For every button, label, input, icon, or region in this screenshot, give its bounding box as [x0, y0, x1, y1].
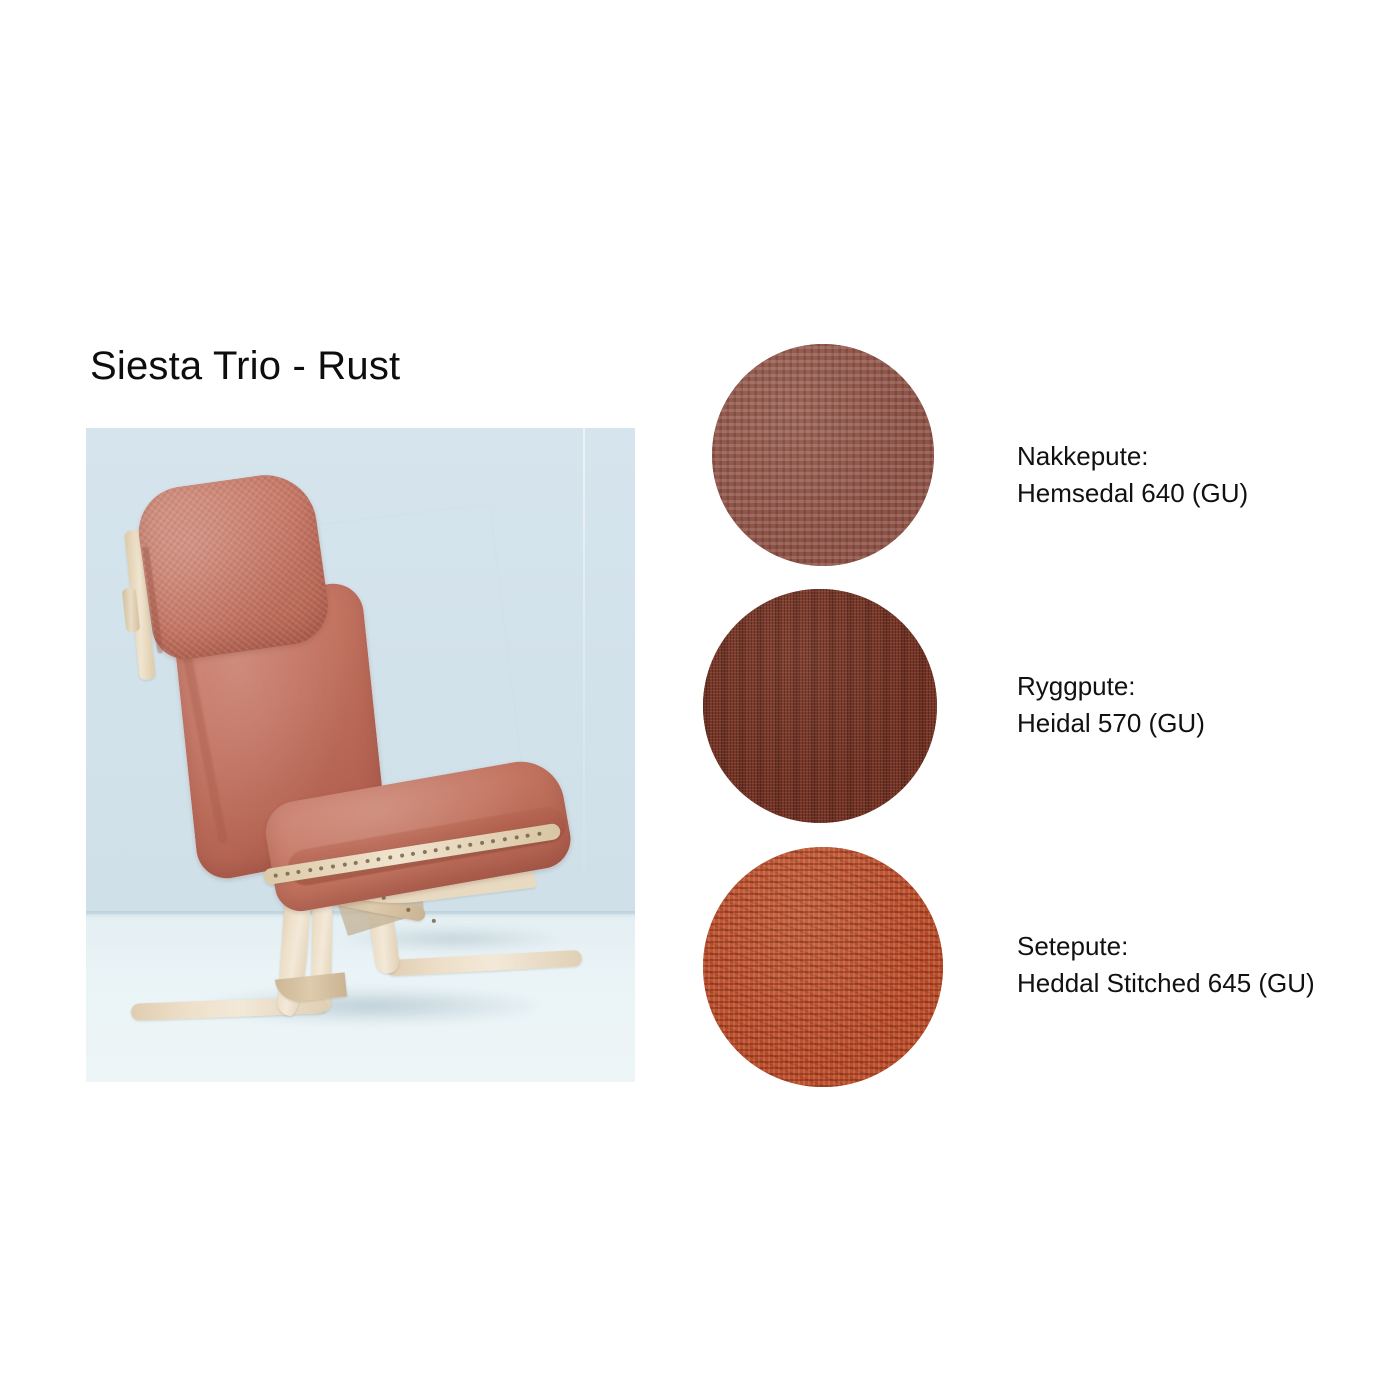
swatch-nakkepute[interactable] — [712, 344, 934, 566]
swatch-ryggpute-weave — [703, 589, 937, 823]
swatch-nakkepute-label: Nakkepute: Hemsedal 640 (GU) — [1017, 438, 1248, 512]
swatch-nakkepute-part: Nakkepute: — [1017, 438, 1248, 475]
chair-illustration — [86, 428, 635, 1082]
swatch-ryggpute-fabric: Heidal 570 (GU) — [1017, 705, 1205, 742]
swatch-ryggpute[interactable] — [703, 589, 937, 823]
swatch-setepute-weave — [703, 847, 943, 1087]
swatch-nakkepute-fabric: Hemsedal 640 (GU) — [1017, 475, 1248, 512]
chair-rear-runner — [386, 950, 583, 976]
swatch-setepute-label: Setepute: Heddal Stitched 645 (GU) — [1017, 928, 1315, 1002]
swatch-ryggpute-part: Ryggpute: — [1017, 668, 1205, 705]
swatch-ryggpute-label: Ryggpute: Heidal 570 (GU) — [1017, 668, 1205, 742]
page-title: Siesta Trio - Rust — [90, 344, 400, 389]
chair-headrest-weave-texture — [133, 468, 333, 663]
swatch-setepute-part: Setepute: — [1017, 928, 1315, 965]
product-photo — [86, 428, 635, 1082]
swatch-setepute[interactable] — [703, 847, 943, 1087]
swatch-setepute-fabric: Heddal Stitched 645 (GU) — [1017, 965, 1315, 1002]
swatch-nakkepute-weave — [712, 344, 934, 566]
